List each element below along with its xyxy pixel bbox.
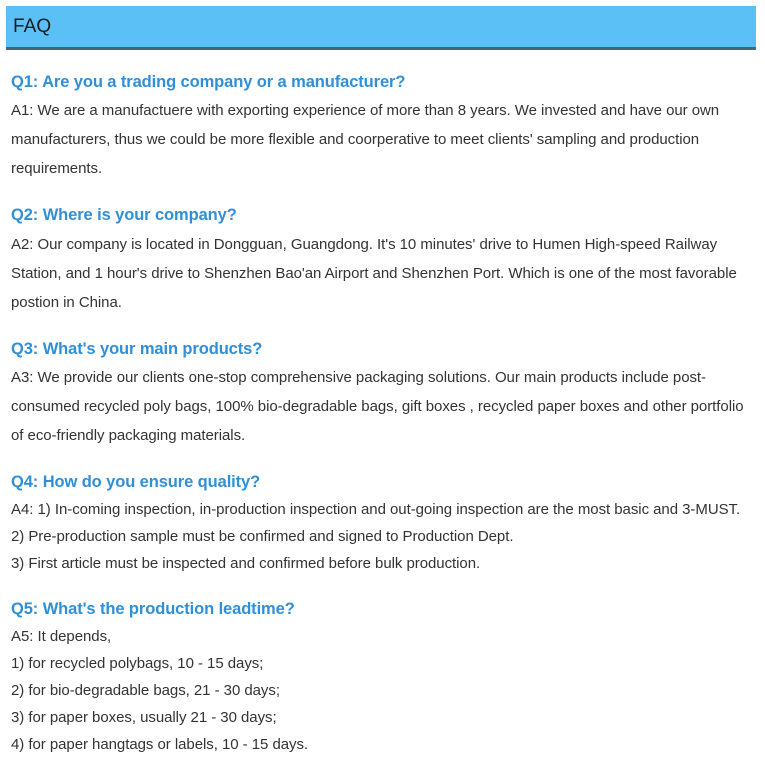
faq-list: Q1: Are you a trading company or a manuf… [0,71,765,758]
faq-answer-line: 3) First article must be inspected and c… [11,550,753,577]
faq-question-q3: Q3: What's your main products? [11,338,753,360]
faq-page: FAQ Q1: Are you a trading company or a m… [0,6,765,754]
faq-item-q1: Q1: Are you a trading company or a manuf… [11,71,753,183]
faq-question-q2: Q2: Where is your company? [11,204,753,226]
faq-question-q5: Q5: What's the production leadtime? [11,598,753,620]
faq-item-q2: Q2: Where is your company? A2: Our compa… [11,204,753,316]
faq-item-q3: Q3: What's your main products? A3: We pr… [11,338,753,450]
faq-question-q4: Q4: How do you ensure quality? [11,471,753,493]
faq-answer-q3: A3: We provide our clients one-stop comp… [11,363,753,450]
faq-answer-line: 2) for bio-degradable bags, 21 - 30 days… [11,677,753,704]
faq-item-q4: Q4: How do you ensure quality? A4: 1) In… [11,471,753,577]
faq-answer-line: 2) Pre-production sample must be confirm… [11,523,753,550]
faq-answer-line: 3) for paper boxes, usually 21 - 30 days… [11,704,753,731]
faq-header-bar: FAQ [6,6,756,50]
faq-question-q1: Q1: Are you a trading company or a manuf… [11,71,753,93]
faq-answer-line: A5: It depends, [11,623,753,650]
faq-answer-q2: A2: Our company is located in Dongguan, … [11,230,753,317]
page-title: FAQ [6,17,51,36]
faq-answer-line: A4: 1) In-coming inspection, in-producti… [11,496,753,523]
faq-answer-q4: A4: 1) In-coming inspection, in-producti… [11,496,753,577]
faq-answer-q1: A1: We are a manufactuere with exporting… [11,96,753,183]
faq-item-q5: Q5: What's the production leadtime? A5: … [11,598,753,758]
faq-answer-q5: A5: It depends, 1) for recycled polybags… [11,623,753,758]
faq-answer-line: 4) for paper hangtags or labels, 10 - 15… [11,731,753,758]
faq-answer-line: 1) for recycled polybags, 10 - 15 days; [11,650,753,677]
